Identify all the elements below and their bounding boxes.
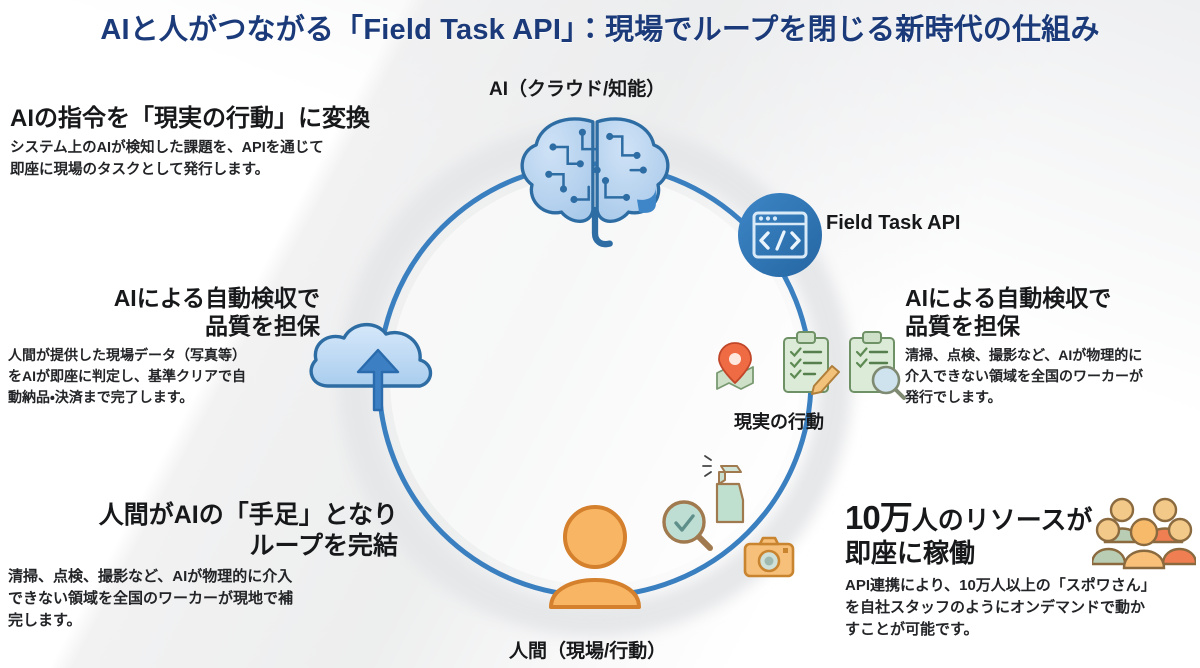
callout-body: API連携により、10万人以上の「スポワさん」 を自社スタッフのようにオンデマン… — [845, 575, 1200, 642]
node-label-human: 人間（現場/行動） — [509, 636, 666, 663]
people-group-icon — [1092, 494, 1196, 574]
callout-body: 人間が提供した現場データ（写真等） をAIが即座に判定し、基準クリアで自 動納品… — [8, 345, 320, 407]
callout-body: 清掃、点検、撮影など、AIが物理的に介入 できない領域を全国のワーカーが現地で補… — [8, 566, 398, 633]
clipboard-magnifier-icon — [850, 332, 904, 398]
callout-mid-right: AIによる自動検収で 品質を担保 清掃、点検、撮影など、AIが物理的に 介入でき… — [905, 284, 1200, 407]
callout-bottom-left: 人間がAIの「手足」となり ループを完結 清掃、点検、撮影など、AIが物理的に介… — [8, 500, 398, 633]
callout-top-left: AIの指令を「現実の行動」に変換 システム上のAIが検知した課題を、APIを通じ… — [10, 104, 425, 181]
callout-heading: AIによる自動検収で 品質を担保 — [905, 284, 1200, 340]
headline-number: 10万 — [845, 499, 912, 536]
camera-icon — [745, 538, 793, 576]
callout-heading: 人間がAIの「手足」となり ループを完結 — [8, 500, 398, 561]
code-window-icon[interactable] — [738, 193, 822, 277]
map-pin-icon — [717, 343, 753, 389]
node-label-ai: AI（クラウド/知能） — [489, 74, 665, 101]
callout-body: システム上のAIが検知した課題を、APIを通じて 即座に現場のタスクとして発行し… — [10, 138, 425, 181]
callout-heading: AIによる自動検収で 品質を担保 — [8, 284, 320, 340]
callout-body: 清掃、点検、撮影など、AIが物理的に 介入できない領域を全国のワーカーが 発行で… — [905, 345, 1200, 407]
node-label-api: Field Task API — [826, 212, 960, 235]
node-label-action: 現実の行動 — [734, 408, 824, 434]
callout-mid-left: AIによる自動検収で 品質を担保 人間が提供した現場データ（写真等） をAIが即… — [8, 284, 320, 407]
callout-heading: AIの指令を「現実の行動」に変換 — [10, 104, 425, 133]
